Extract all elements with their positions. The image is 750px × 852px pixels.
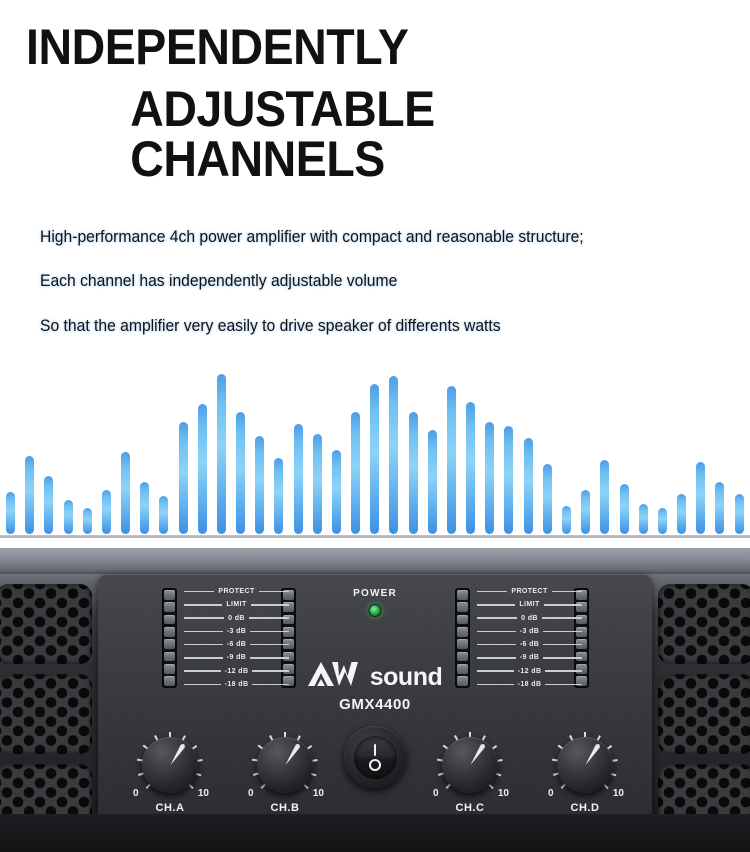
scale-tick (543, 631, 582, 633)
led-segment (164, 615, 175, 625)
waveform-bar (102, 490, 111, 534)
knob-body[interactable] (442, 737, 498, 793)
waveform-bar (696, 462, 705, 534)
scale-tick (250, 644, 289, 646)
power-off-symbol-icon (369, 759, 381, 771)
brand-logo: sound GMX4400 (98, 662, 652, 713)
meter-scale-row: -3 dB (184, 628, 289, 635)
waveform-bar (6, 492, 15, 534)
waveform-bar (274, 458, 283, 534)
knob-max-label: 10 (613, 788, 624, 799)
waveform-bar (658, 508, 667, 534)
audio-waveform-graphic (0, 362, 750, 544)
knob-body[interactable] (557, 737, 613, 793)
led-segment (457, 639, 468, 649)
waveform-bar (562, 506, 571, 534)
waveform-bar (428, 430, 437, 534)
waveform-bar (255, 436, 264, 534)
meter-scale-row: LIMIT (477, 601, 582, 608)
knob-pointer-icon (468, 743, 486, 767)
meter-scale-row: 0 dB (184, 615, 289, 622)
waveform-bar (179, 422, 188, 534)
meter-scale-row: -9 dB (184, 654, 289, 661)
waveform-bar (236, 412, 245, 534)
waveform-bars (6, 364, 744, 534)
scale-label: -9 dB (520, 654, 540, 661)
amplifier-bottom-edge (0, 814, 750, 852)
waveform-bar (83, 508, 92, 534)
waveform-bar (44, 476, 53, 534)
knob-max-label: 10 (313, 788, 324, 799)
waveform-bar (600, 460, 609, 534)
vent-panel (0, 584, 92, 664)
knob-channel-label: CH.A (134, 802, 206, 814)
scale-tick (251, 604, 289, 606)
scale-tick (184, 644, 223, 646)
led-segment (164, 652, 175, 662)
scale-tick (544, 604, 582, 606)
scale-label: LIMIT (226, 601, 246, 608)
waveform-baseline (0, 535, 750, 538)
waveform-bar (25, 456, 34, 534)
led-segment (457, 602, 468, 612)
amplifier-front-panel: PROTECTLIMIT0 dB-3 dB-6 dB-9 dB-12 dB-18… (98, 574, 652, 824)
meter-scale-row: 0 dB (477, 615, 582, 622)
scale-tick (542, 617, 582, 619)
amplifier-top-bevel (0, 548, 750, 574)
knob-body[interactable] (257, 737, 313, 793)
scale-tick (477, 631, 516, 633)
scale-tick (250, 657, 289, 659)
waveform-bar (370, 384, 379, 534)
knob-body[interactable] (142, 737, 198, 793)
waveform-bar (389, 376, 398, 534)
waveform-bar (581, 490, 590, 534)
vent-panel (658, 584, 750, 664)
waveform-bar (715, 482, 724, 534)
led-segment (164, 639, 175, 649)
headline-line-1: INDEPENDENTLY (0, 22, 698, 72)
scale-tick (477, 604, 515, 606)
led-segment (457, 627, 468, 637)
scale-label: -3 dB (520, 628, 540, 635)
scale-tick (184, 617, 224, 619)
scale-label: LIMIT (519, 601, 539, 608)
waveform-bar (409, 412, 418, 534)
waveform-bar (159, 496, 168, 534)
knob-max-label: 10 (498, 788, 509, 799)
headline-line-2: ADJUSTABLE CHANNELS (0, 84, 698, 184)
vent-grille-left (0, 578, 92, 852)
scale-tick (477, 617, 517, 619)
led-segment (457, 615, 468, 625)
scale-tick (249, 617, 289, 619)
waveform-bar (735, 494, 744, 534)
power-switch-rocker[interactable] (354, 736, 397, 779)
waveform-bar (620, 484, 629, 534)
vent-panel (0, 674, 92, 754)
waveform-bar (677, 494, 686, 534)
waveform-bar (466, 402, 475, 534)
scale-tick (543, 657, 582, 659)
volume-knob-ch-a[interactable]: 0 10 CH.A (134, 729, 206, 814)
scale-tick (477, 644, 516, 646)
meter-scale-row: LIMIT (184, 601, 289, 608)
meter-scale-row: -3 dB (477, 628, 582, 635)
amplifier-product-image: PROTECTLIMIT0 dB-3 dB-6 dB-9 dB-12 dB-18… (0, 548, 750, 852)
led-segment (457, 652, 468, 662)
brand-name: sound (370, 665, 443, 690)
waveform-bar (294, 424, 303, 534)
waveform-bar (543, 464, 552, 534)
volume-knob-ch-d[interactable]: 0 10 CH.D (549, 729, 621, 814)
feature-description: High-performance 4ch power amplifier wit… (0, 226, 750, 337)
scale-tick (184, 604, 222, 606)
page-title: INDEPENDENTLY ADJUSTABLE CHANNELS (0, 0, 750, 184)
power-led-indicator (369, 604, 382, 617)
scale-tick (250, 631, 289, 633)
meter-scale-row: -9 dB (477, 654, 582, 661)
knob-channel-label: CH.B (249, 802, 321, 814)
scale-tick (477, 657, 516, 659)
waveform-bar (524, 438, 533, 534)
waveform-bar (140, 482, 149, 534)
knob-min-label: 0 (548, 788, 554, 799)
power-on-symbol-icon (374, 744, 376, 756)
waveform-bar (485, 422, 494, 534)
scale-tick (543, 644, 582, 646)
volume-knob-ch-c[interactable]: 0 10 CH.C (434, 729, 506, 814)
waveform-bar (639, 504, 648, 534)
scale-label: 0 dB (228, 615, 245, 622)
meter-scale-row: -6 dB (184, 641, 289, 648)
waveform-bar (351, 412, 360, 534)
waveform-bar (64, 500, 73, 534)
waveform-bar (447, 386, 456, 534)
waveform-bar (121, 452, 130, 534)
volume-knob-ch-b[interactable]: 0 10 CH.B (249, 729, 321, 814)
feature-text-3: So that the amplifier very easily to dri… (40, 315, 715, 337)
aw-logo-icon (308, 662, 368, 692)
feature-text-1: High-performance 4ch power amplifier wit… (40, 226, 715, 248)
knob-pointer-icon (283, 743, 301, 767)
knob-channel-label: CH.D (549, 802, 621, 814)
knob-pointer-icon (168, 743, 186, 767)
scale-label: -3 dB (227, 628, 247, 635)
scale-label: -6 dB (520, 641, 540, 648)
knob-max-label: 10 (198, 788, 209, 799)
power-switch[interactable] (344, 726, 406, 788)
knob-min-label: 0 (133, 788, 139, 799)
scale-label: -9 dB (227, 654, 247, 661)
knob-pointer-icon (583, 743, 601, 767)
knob-min-label: 0 (248, 788, 254, 799)
waveform-bar (217, 374, 226, 534)
power-label: POWER (98, 588, 652, 599)
waveform-bar (313, 434, 322, 534)
scale-label: 0 dB (521, 615, 538, 622)
waveform-bar (198, 404, 207, 534)
meter-scale-row: -6 dB (477, 641, 582, 648)
waveform-bar (332, 450, 341, 534)
vent-grille-right (658, 578, 750, 852)
vent-panel (658, 674, 750, 754)
scale-tick (184, 631, 223, 633)
led-segment (164, 627, 175, 637)
knob-channel-label: CH.C (434, 802, 506, 814)
knob-min-label: 0 (433, 788, 439, 799)
feature-text-2: Each channel has independently adjustabl… (40, 270, 715, 292)
scale-label: -6 dB (227, 641, 247, 648)
led-segment (164, 602, 175, 612)
scale-tick (184, 657, 223, 659)
model-number: GMX4400 (98, 696, 652, 713)
waveform-bar (504, 426, 513, 534)
